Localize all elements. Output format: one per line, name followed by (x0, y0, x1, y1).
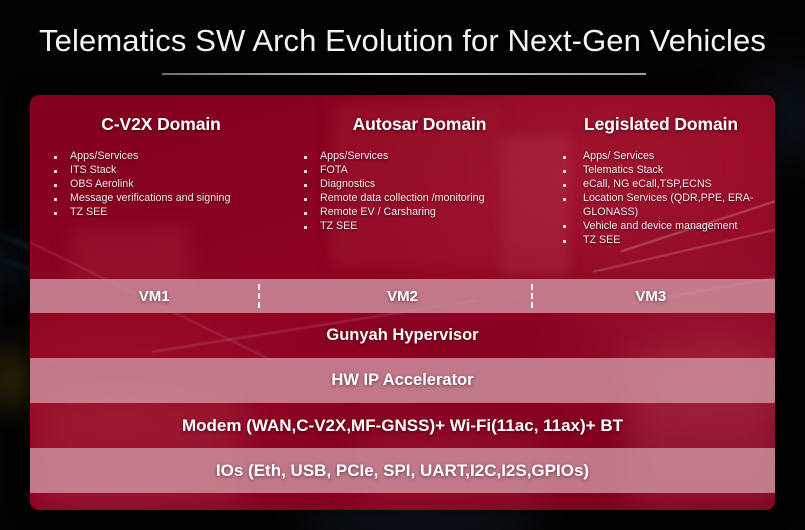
title-area: Telematics SW Arch Evolution for Next-Ge… (0, 0, 805, 95)
domain-title-c-v2x: C-V2X Domain (30, 114, 292, 135)
layer-label: Gunyah Hypervisor (326, 326, 478, 345)
vm-cell-3: VM3 (527, 288, 775, 305)
list-item: Vehicle and device management (561, 220, 775, 234)
bokeh-dot-teal (0, 252, 16, 282)
layer-label: Modem (WAN,C-V2X,MF-GNSS)+ Wi-Fi(11ac, 1… (182, 416, 623, 436)
domain-bullet-list-c-v2x: Apps/Services ITS Stack OBS Aerolink Mes… (30, 150, 292, 220)
list-item: OBS Aerolink (46, 178, 292, 192)
vm-cell-2: VM2 (278, 288, 526, 305)
bokeh-dot-yellow (0, 362, 30, 396)
layer-label: HW IP Accelerator (331, 371, 473, 390)
domain-bullet-list-autosar: Apps/Services FOTA Diagnostics Remote da… (292, 150, 547, 234)
domain-title-legislated: Legislated Domain (547, 114, 775, 135)
vm-divider-1 (258, 284, 260, 308)
vm-divider-2 (531, 284, 533, 308)
panel-footer-strip (30, 493, 775, 510)
architecture-panel: C-V2X Domain Apps/Services ITS Stack OBS… (30, 95, 775, 510)
list-item: Apps/ Services (561, 150, 775, 164)
domain-column-c-v2x: C-V2X Domain Apps/Services ITS Stack OBS… (30, 95, 292, 279)
vm-row: VM1 VM2 VM3 (30, 279, 775, 313)
layer-label: IOs (Eth, USB, PCIe, SPI, UART,I2C,I2S,G… (216, 461, 589, 481)
list-item: Apps/Services (46, 150, 292, 164)
domain-column-legislated: Legislated Domain Apps/ Services Telemat… (547, 95, 775, 279)
list-item: eCall, NG eCall,TSP,ECNS (561, 178, 775, 192)
list-item: Location Services (QDR,PPE, ERA-GLONASS) (561, 192, 775, 219)
layer-row-hypervisor: Gunyah Hypervisor (30, 313, 775, 358)
vm-cell-1: VM1 (30, 288, 278, 305)
list-item: ITS Stack (46, 164, 292, 178)
list-item: Remote EV / Carsharing (296, 206, 547, 220)
domain-column-autosar: Autosar Domain Apps/Services FOTA Diagno… (292, 95, 547, 279)
list-item: Message verifications and signing (46, 192, 292, 206)
list-item: Remote data collection /monitoring (296, 192, 547, 206)
list-item: Apps/Services (296, 150, 547, 164)
layer-row-modem: Modem (WAN,C-V2X,MF-GNSS)+ Wi-Fi(11ac, 1… (30, 403, 775, 448)
domain-columns: C-V2X Domain Apps/Services ITS Stack OBS… (30, 95, 775, 279)
layer-row-hw-accelerator: HW IP Accelerator (30, 358, 775, 403)
title-underline-rule (162, 73, 646, 75)
layer-stack: VM1 VM2 VM3 Gunyah Hypervisor HW IP Acce… (30, 279, 775, 510)
list-item: TZ SEE (46, 206, 292, 220)
list-item: TZ SEE (296, 220, 547, 234)
list-item: Diagnostics (296, 178, 547, 192)
list-item: TZ SEE (561, 234, 775, 248)
vm-cells: VM1 VM2 VM3 (30, 279, 775, 313)
list-item: Telematics Stack (561, 164, 775, 178)
list-item: FOTA (296, 164, 547, 178)
domain-title-autosar: Autosar Domain (292, 114, 547, 135)
page-title: Telematics SW Arch Evolution for Next-Ge… (0, 23, 805, 59)
layer-row-ios: IOs (Eth, USB, PCIe, SPI, UART,I2C,I2S,G… (30, 448, 775, 493)
domain-bullet-list-legislated: Apps/ Services Telematics Stack eCall, N… (547, 150, 775, 248)
